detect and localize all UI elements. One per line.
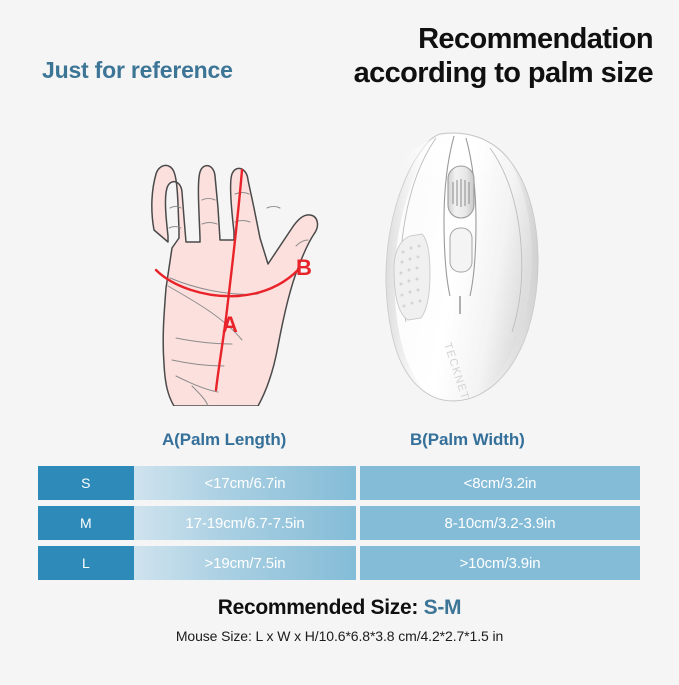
palm-width-label-b: B: [296, 255, 312, 281]
size-label-m: M: [38, 506, 134, 540]
palm-length-value-s: <17cm/6.7in: [134, 466, 356, 500]
page-title-line-1: Recommendation: [253, 22, 653, 56]
palm-width-value-l: >10cm/3.9in: [360, 546, 640, 580]
table-row: M 17-19cm/6.7-7.5in 8-10cm/3.2-3.9in: [38, 506, 640, 540]
palm-measurement-diagram: [108, 88, 348, 406]
size-label-l: L: [38, 546, 134, 580]
table-row: S <17cm/6.7in <8cm/3.2in: [38, 466, 640, 500]
palm-width-value-s: <8cm/3.2in: [360, 466, 640, 500]
page-title: Recommendation according to palm size: [253, 22, 653, 90]
table-row: L >19cm/7.5in >10cm/3.9in: [38, 546, 640, 580]
page-title-line-2: according to palm size: [253, 56, 653, 90]
reference-label: Just for reference: [42, 57, 233, 84]
recommended-size-value: S-M: [424, 596, 462, 619]
mouse-dimensions-text: Mouse Size: L x W x H/10.6*6.8*3.8 cm/4.…: [0, 628, 679, 644]
column-header-palm-width: B(Palm Width): [410, 430, 525, 450]
table-column-headers: A(Palm Length) B(Palm Width): [38, 430, 640, 458]
palm-length-value-m: 17-19cm/6.7-7.5in: [134, 506, 356, 540]
mouse-dpi-button: [450, 228, 472, 272]
size-label-s: S: [38, 466, 134, 500]
infographic-page: Just for reference Recommendation accord…: [0, 0, 679, 685]
palm-length-value-l: >19cm/7.5in: [134, 546, 356, 580]
palm-length-label-a: A: [222, 312, 238, 338]
recommended-size-label: Recommended Size:: [218, 596, 424, 619]
column-header-palm-length: A(Palm Length): [162, 430, 286, 450]
size-recommendation-table: A(Palm Length) B(Palm Width) S <17cm/6.7…: [38, 430, 640, 580]
recommended-size-line: Recommended Size: S-M: [0, 596, 679, 620]
wireless-mouse-product-image: TECKNET: [378, 128, 553, 406]
palm-width-value-m: 8-10cm/3.2-3.9in: [360, 506, 640, 540]
